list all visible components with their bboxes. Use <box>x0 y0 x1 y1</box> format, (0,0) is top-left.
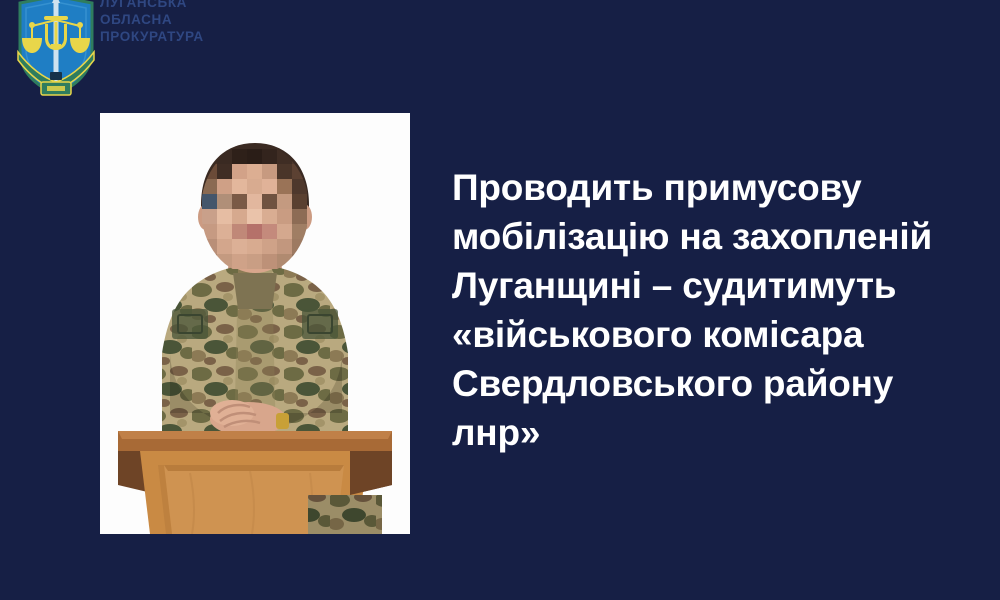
headline-line-1: Проводить примусову <box>452 163 952 212</box>
headline-line-2: мобілізацію на захопленій <box>452 212 952 261</box>
subject-photo <box>100 113 410 534</box>
headline-line-6: лнр» <box>452 408 952 457</box>
headline-line-3: Луганщині – судитимуть <box>452 261 952 310</box>
news-poster: ЛУГАНСЬКА ОБЛАСНА ПРОКУРАТУРА <box>0 0 1000 600</box>
brand-title: ЛУГАНСЬКА ОБЛАСНА ПРОКУРАТУРА <box>100 0 290 45</box>
prosecutors-office-emblem-icon <box>14 0 98 98</box>
headline-line-4: «військового комісара <box>452 310 952 359</box>
brand-line-1: ЛУГАНСЬКА <box>100 0 290 11</box>
headline-line-5: Свердловського району <box>452 359 952 408</box>
brand-line-3: ПРОКУРАТУРА <box>100 28 290 45</box>
headline: Проводить примусову мобілізацію на захоп… <box>452 163 952 457</box>
brand-block: ЛУГАНСЬКА ОБЛАСНА ПРОКУРАТУРА <box>0 0 300 100</box>
brand-line-2: ОБЛАСНА <box>100 11 290 28</box>
